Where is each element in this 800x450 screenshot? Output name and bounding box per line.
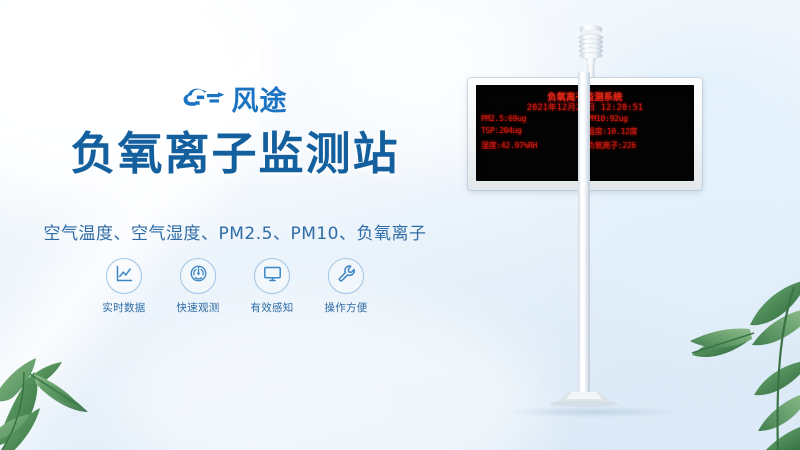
reading-negative-oxygen-ion: 负氧离子:226 xyxy=(587,140,689,151)
monitor-icon xyxy=(262,263,283,289)
feature-label: 操作方便 xyxy=(324,300,367,315)
feature-item-fast-observation[interactable]: 快速观测 xyxy=(174,258,222,315)
feature-item-easy-operation[interactable]: 操作方便 xyxy=(322,258,370,315)
cloud-wind-icon xyxy=(183,86,225,117)
page-title: 负氧离子监测站 xyxy=(0,128,470,180)
feature-label: 有效感知 xyxy=(250,300,293,315)
support-pole-highlight xyxy=(581,72,584,402)
reading-tsp: TSP:204ug xyxy=(481,126,583,137)
feature-label: 实时数据 xyxy=(102,300,145,315)
support-pole xyxy=(578,72,590,402)
line-chart-icon xyxy=(114,263,135,289)
brand-logo: 风途 xyxy=(0,86,470,117)
sensor-wave-icon xyxy=(188,263,209,289)
feature-icon-circle xyxy=(254,258,290,294)
reading-temperature: 温度:10.12度 xyxy=(587,126,689,137)
feature-list: 实时数据 快速观测 xyxy=(0,258,470,315)
feature-item-effective-sensing[interactable]: 有效感知 xyxy=(248,258,296,315)
feature-icon-circle xyxy=(106,258,142,294)
feature-icon-circle xyxy=(180,258,216,294)
brand-name: 风途 xyxy=(232,88,288,115)
wrench-icon xyxy=(336,263,357,289)
feature-label: 快速观测 xyxy=(176,300,219,315)
ground-shadow xyxy=(470,404,720,420)
monitoring-station: 负氧离子监测系统 2021年12月22日 12:20:51 PM2.5:69ug… xyxy=(430,0,800,450)
reading-humidity: 湿度:42.97%RH xyxy=(481,140,583,151)
radiation-shield-sensor-icon xyxy=(569,22,613,82)
reading-pm25: PM2.5:69ug xyxy=(481,114,583,123)
feature-icon-circle xyxy=(328,258,364,294)
page-subtitle: 空气温度、空气湿度、PM2.5、PM10、负氧离子 xyxy=(0,219,470,244)
reading-pm10: PM10:92ug xyxy=(587,114,689,123)
feature-item-realtime-data[interactable]: 实时数据 xyxy=(100,258,148,315)
poster-background: 风途 负氧离子监测站 空气温度、空气湿度、PM2.5、PM10、负氧离子 xyxy=(0,0,800,450)
hero-copy-block: 风途 负氧离子监测站 空气温度、空气湿度、PM2.5、PM10、负氧离子 xyxy=(0,0,470,450)
